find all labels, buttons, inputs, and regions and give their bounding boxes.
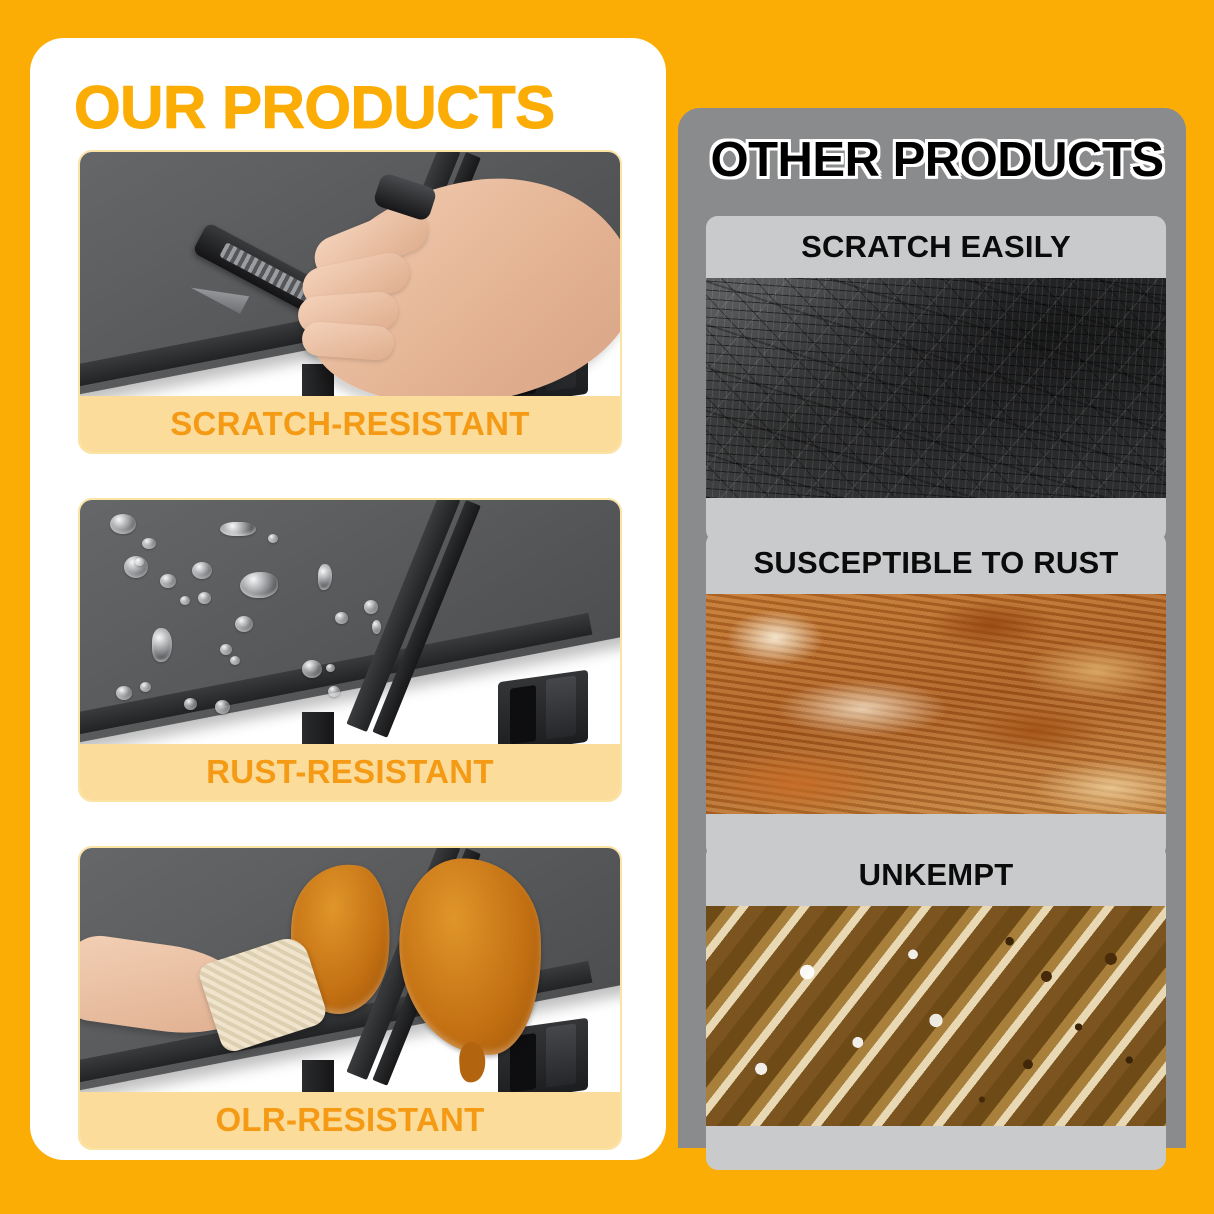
- water-droplet: [152, 628, 172, 662]
- water-droplet: [240, 572, 278, 598]
- product-card-rust-resistant[interactable]: RUST-RESISTANT: [78, 498, 622, 802]
- other-card-label: SUSCEPTIBLE TO RUST: [706, 532, 1166, 594]
- product-caption: SCRATCH-RESISTANT: [80, 396, 620, 452]
- page-title: OUR PRODUCTS: [74, 78, 555, 138]
- bracket-slot-secondary: [546, 1023, 576, 1087]
- water-droplet: [328, 686, 340, 697]
- water-droplet: [215, 700, 230, 714]
- product-card-scratch-resistant[interactable]: SCRATCH-RESISTANT: [78, 150, 622, 454]
- product-caption: OLR-RESISTANT: [80, 1092, 620, 1148]
- water-droplet: [268, 534, 278, 543]
- water-droplet: [135, 558, 144, 566]
- water-droplet: [110, 514, 136, 534]
- finger: [301, 321, 395, 361]
- product-image-scratch-resistant: [80, 152, 620, 400]
- water-droplet: [302, 660, 322, 678]
- other-card-unkempt[interactable]: UNKEMPT: [706, 844, 1166, 1170]
- product-card-oil-resistant[interactable]: OLR-RESISTANT: [78, 846, 622, 1150]
- water-droplet: [235, 616, 253, 632]
- other-image-scratch-easily: [706, 278, 1166, 498]
- product-caption: RUST-RESISTANT: [80, 744, 620, 800]
- other-image-rust: [706, 594, 1166, 814]
- other-card-label: UNKEMPT: [706, 844, 1166, 906]
- water-droplet: [220, 522, 256, 536]
- desk-leg: [302, 712, 334, 748]
- water-droplet: [160, 574, 176, 588]
- desk-bracket: [498, 670, 588, 748]
- other-card-label: SCRATCH EASILY: [706, 216, 1166, 278]
- water-droplet: [184, 698, 197, 710]
- desk-illustration: [80, 152, 620, 400]
- water-droplet: [192, 562, 212, 579]
- other-image-unkempt: [706, 906, 1166, 1126]
- product-image-oil-resistant: [80, 848, 620, 1096]
- water-droplet: [364, 600, 378, 614]
- desk-illustration: [80, 848, 620, 1096]
- oily-liquid-texture: [706, 906, 1166, 1126]
- water-droplet: [326, 664, 335, 672]
- water-droplet: [230, 656, 240, 665]
- desk-leg: [302, 1060, 334, 1096]
- rusted-metal-texture: [706, 594, 1166, 814]
- water-droplet: [180, 596, 190, 605]
- water-droplet: [372, 620, 381, 634]
- water-droplet: [140, 682, 151, 692]
- water-droplet: [335, 612, 348, 624]
- other-card-scratch-easily[interactable]: SCRATCH EASILY: [706, 216, 1166, 542]
- other-products-title: OTHER PRODUCTS: [702, 132, 1172, 188]
- scratched-metal-texture: [706, 278, 1166, 498]
- our-products-panel: OUR PRODUCTS: [30, 38, 666, 1160]
- bracket-slot-secondary: [546, 675, 576, 739]
- water-droplet: [198, 592, 211, 604]
- other-card-susceptible-to-rust[interactable]: SUSCEPTIBLE TO RUST: [706, 532, 1166, 858]
- other-products-panel: OTHER PRODUCTS SCRATCH EASILY SUSCEPTIBL…: [678, 108, 1186, 1148]
- infographic-stage: OUR PRODUCTS: [0, 0, 1214, 1214]
- bracket-slot: [510, 685, 536, 745]
- water-droplet: [142, 538, 156, 549]
- product-image-rust-resistant: [80, 500, 620, 748]
- water-droplet: [116, 686, 132, 700]
- water-droplet: [220, 644, 232, 655]
- desk-illustration: [80, 500, 620, 748]
